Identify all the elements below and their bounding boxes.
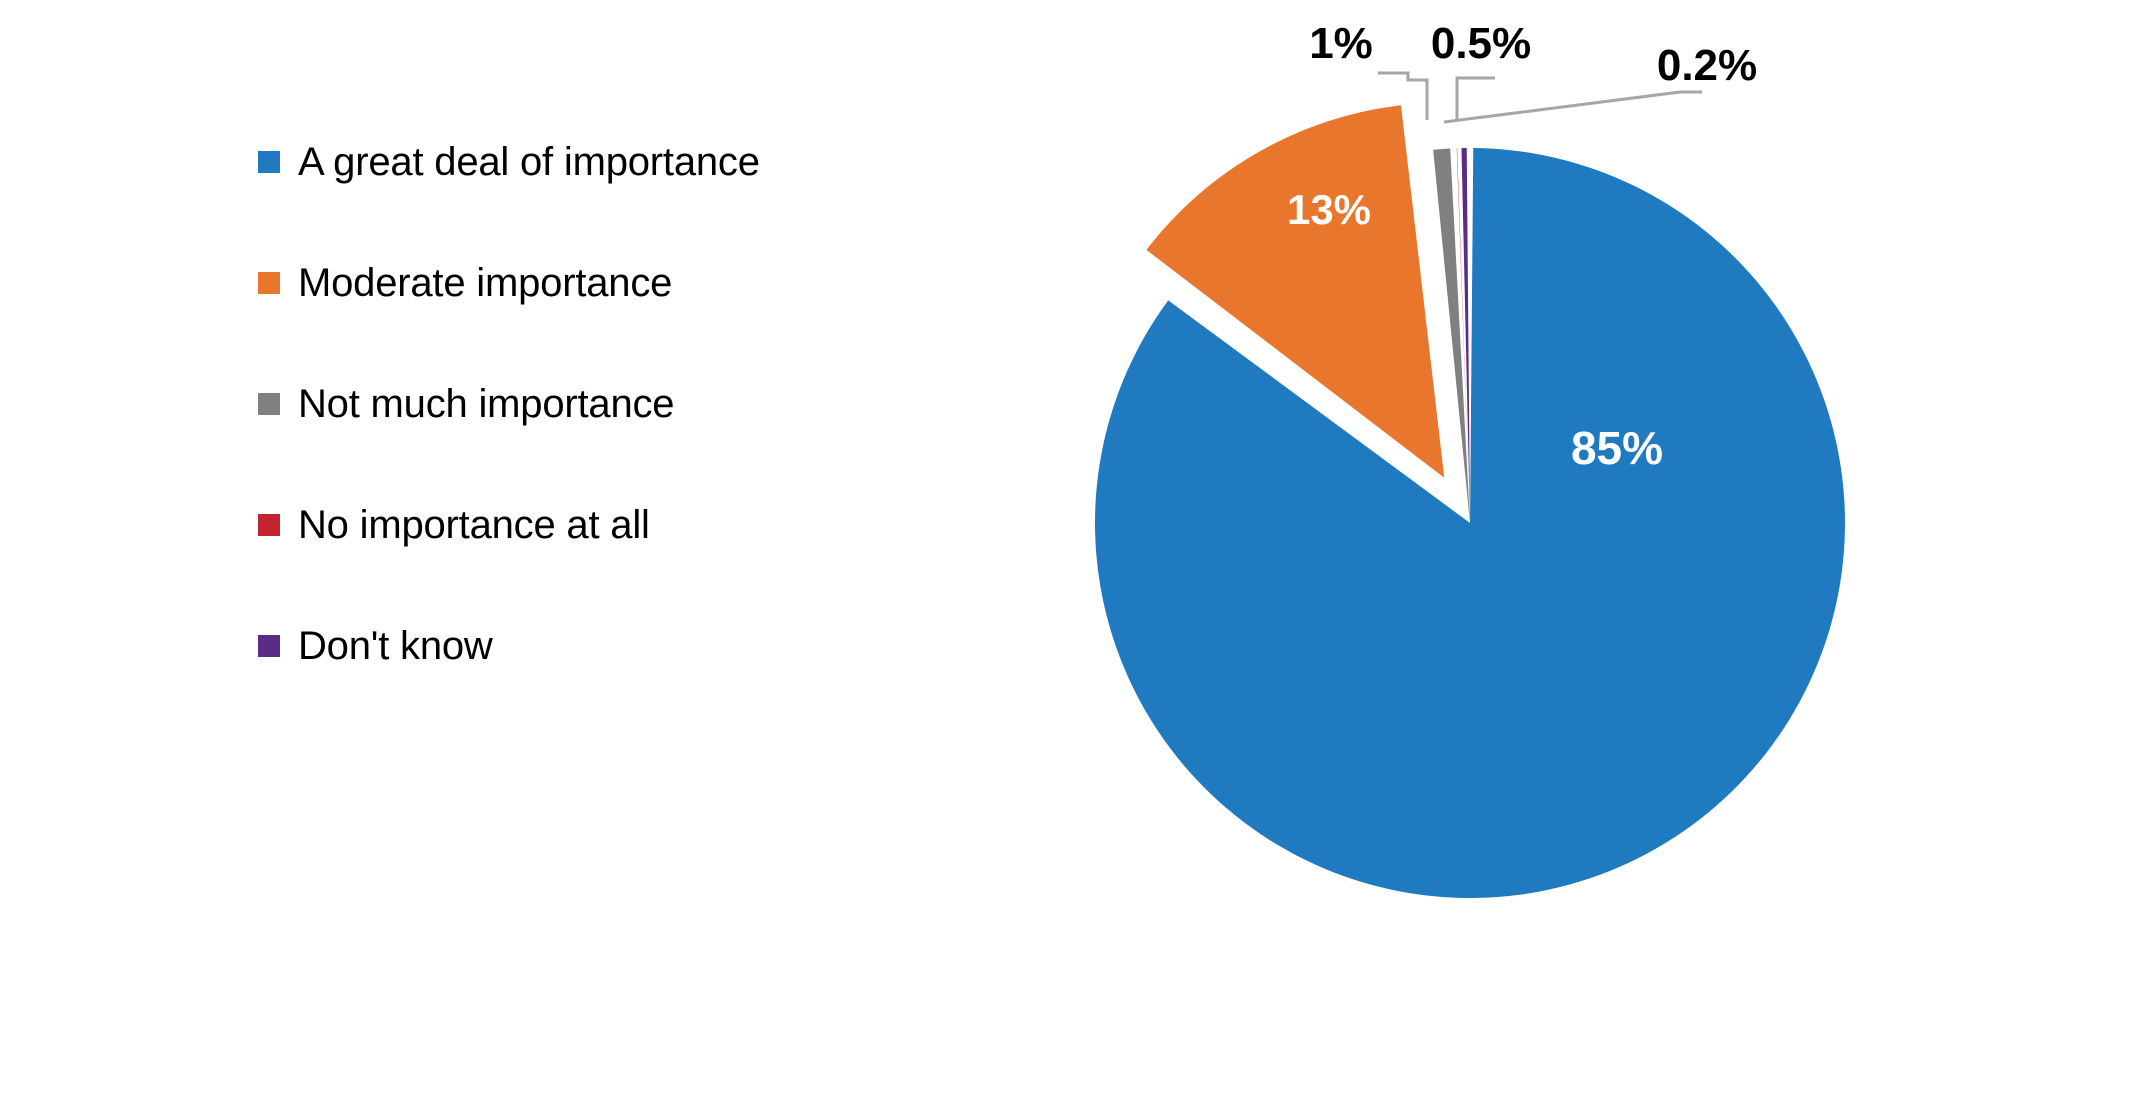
leader-lines bbox=[1378, 73, 1702, 122]
legend-item-moderate-importance[interactable]: Moderate importance bbox=[258, 261, 672, 305]
legend-swatch-icon-orange bbox=[258, 272, 280, 294]
legend-item-no-importance-at-all[interactable]: No importance at all bbox=[258, 503, 650, 547]
legend-item-label: A great deal of importance bbox=[298, 140, 760, 184]
legend-item-label: No importance at all bbox=[298, 503, 650, 547]
legend-swatch-icon-red bbox=[258, 514, 280, 536]
pie-chart-figure: A great deal of importance Moderate impo… bbox=[0, 0, 2131, 1093]
legend-item-dont-know[interactable]: Don't know bbox=[258, 624, 493, 668]
pie-slice[interactable] bbox=[1461, 148, 1470, 523]
callout-label-dont-know: 0.5% bbox=[1431, 19, 1531, 68]
pie-slice[interactable] bbox=[1433, 149, 1470, 523]
slice-label-moderate-importance: 13% bbox=[1287, 186, 1371, 233]
legend-swatch-icon-gray bbox=[258, 393, 280, 415]
leader-line-not-much-importance bbox=[1378, 73, 1427, 120]
legend-item-label: Not much importance bbox=[298, 382, 674, 426]
leader-line-dont-know bbox=[1457, 78, 1495, 121]
slice-label-a-great-deal-of-importance: 85% bbox=[1571, 422, 1663, 474]
pie-slice[interactable] bbox=[1146, 105, 1444, 477]
legend-swatch-icon-blue bbox=[258, 151, 280, 173]
pie-slice[interactable] bbox=[1095, 148, 1845, 898]
legend-swatch-icon-purple bbox=[258, 635, 280, 657]
pie-slices bbox=[1095, 105, 1845, 898]
legend-item-label: Moderate importance bbox=[298, 261, 672, 305]
leader-line-no-importance-at-all bbox=[1444, 92, 1702, 122]
legend-item-not-much-importance[interactable]: Not much importance bbox=[258, 382, 674, 426]
callout-label-not-much-importance: 1% bbox=[1309, 19, 1373, 68]
callout-label-no-importance-at-all: 0.2% bbox=[1657, 41, 1757, 90]
legend-item-label: Don't know bbox=[298, 624, 493, 668]
legend-item-a-great-deal-of-importance[interactable]: A great deal of importance bbox=[258, 140, 760, 184]
pie-slice[interactable] bbox=[1457, 148, 1470, 523]
